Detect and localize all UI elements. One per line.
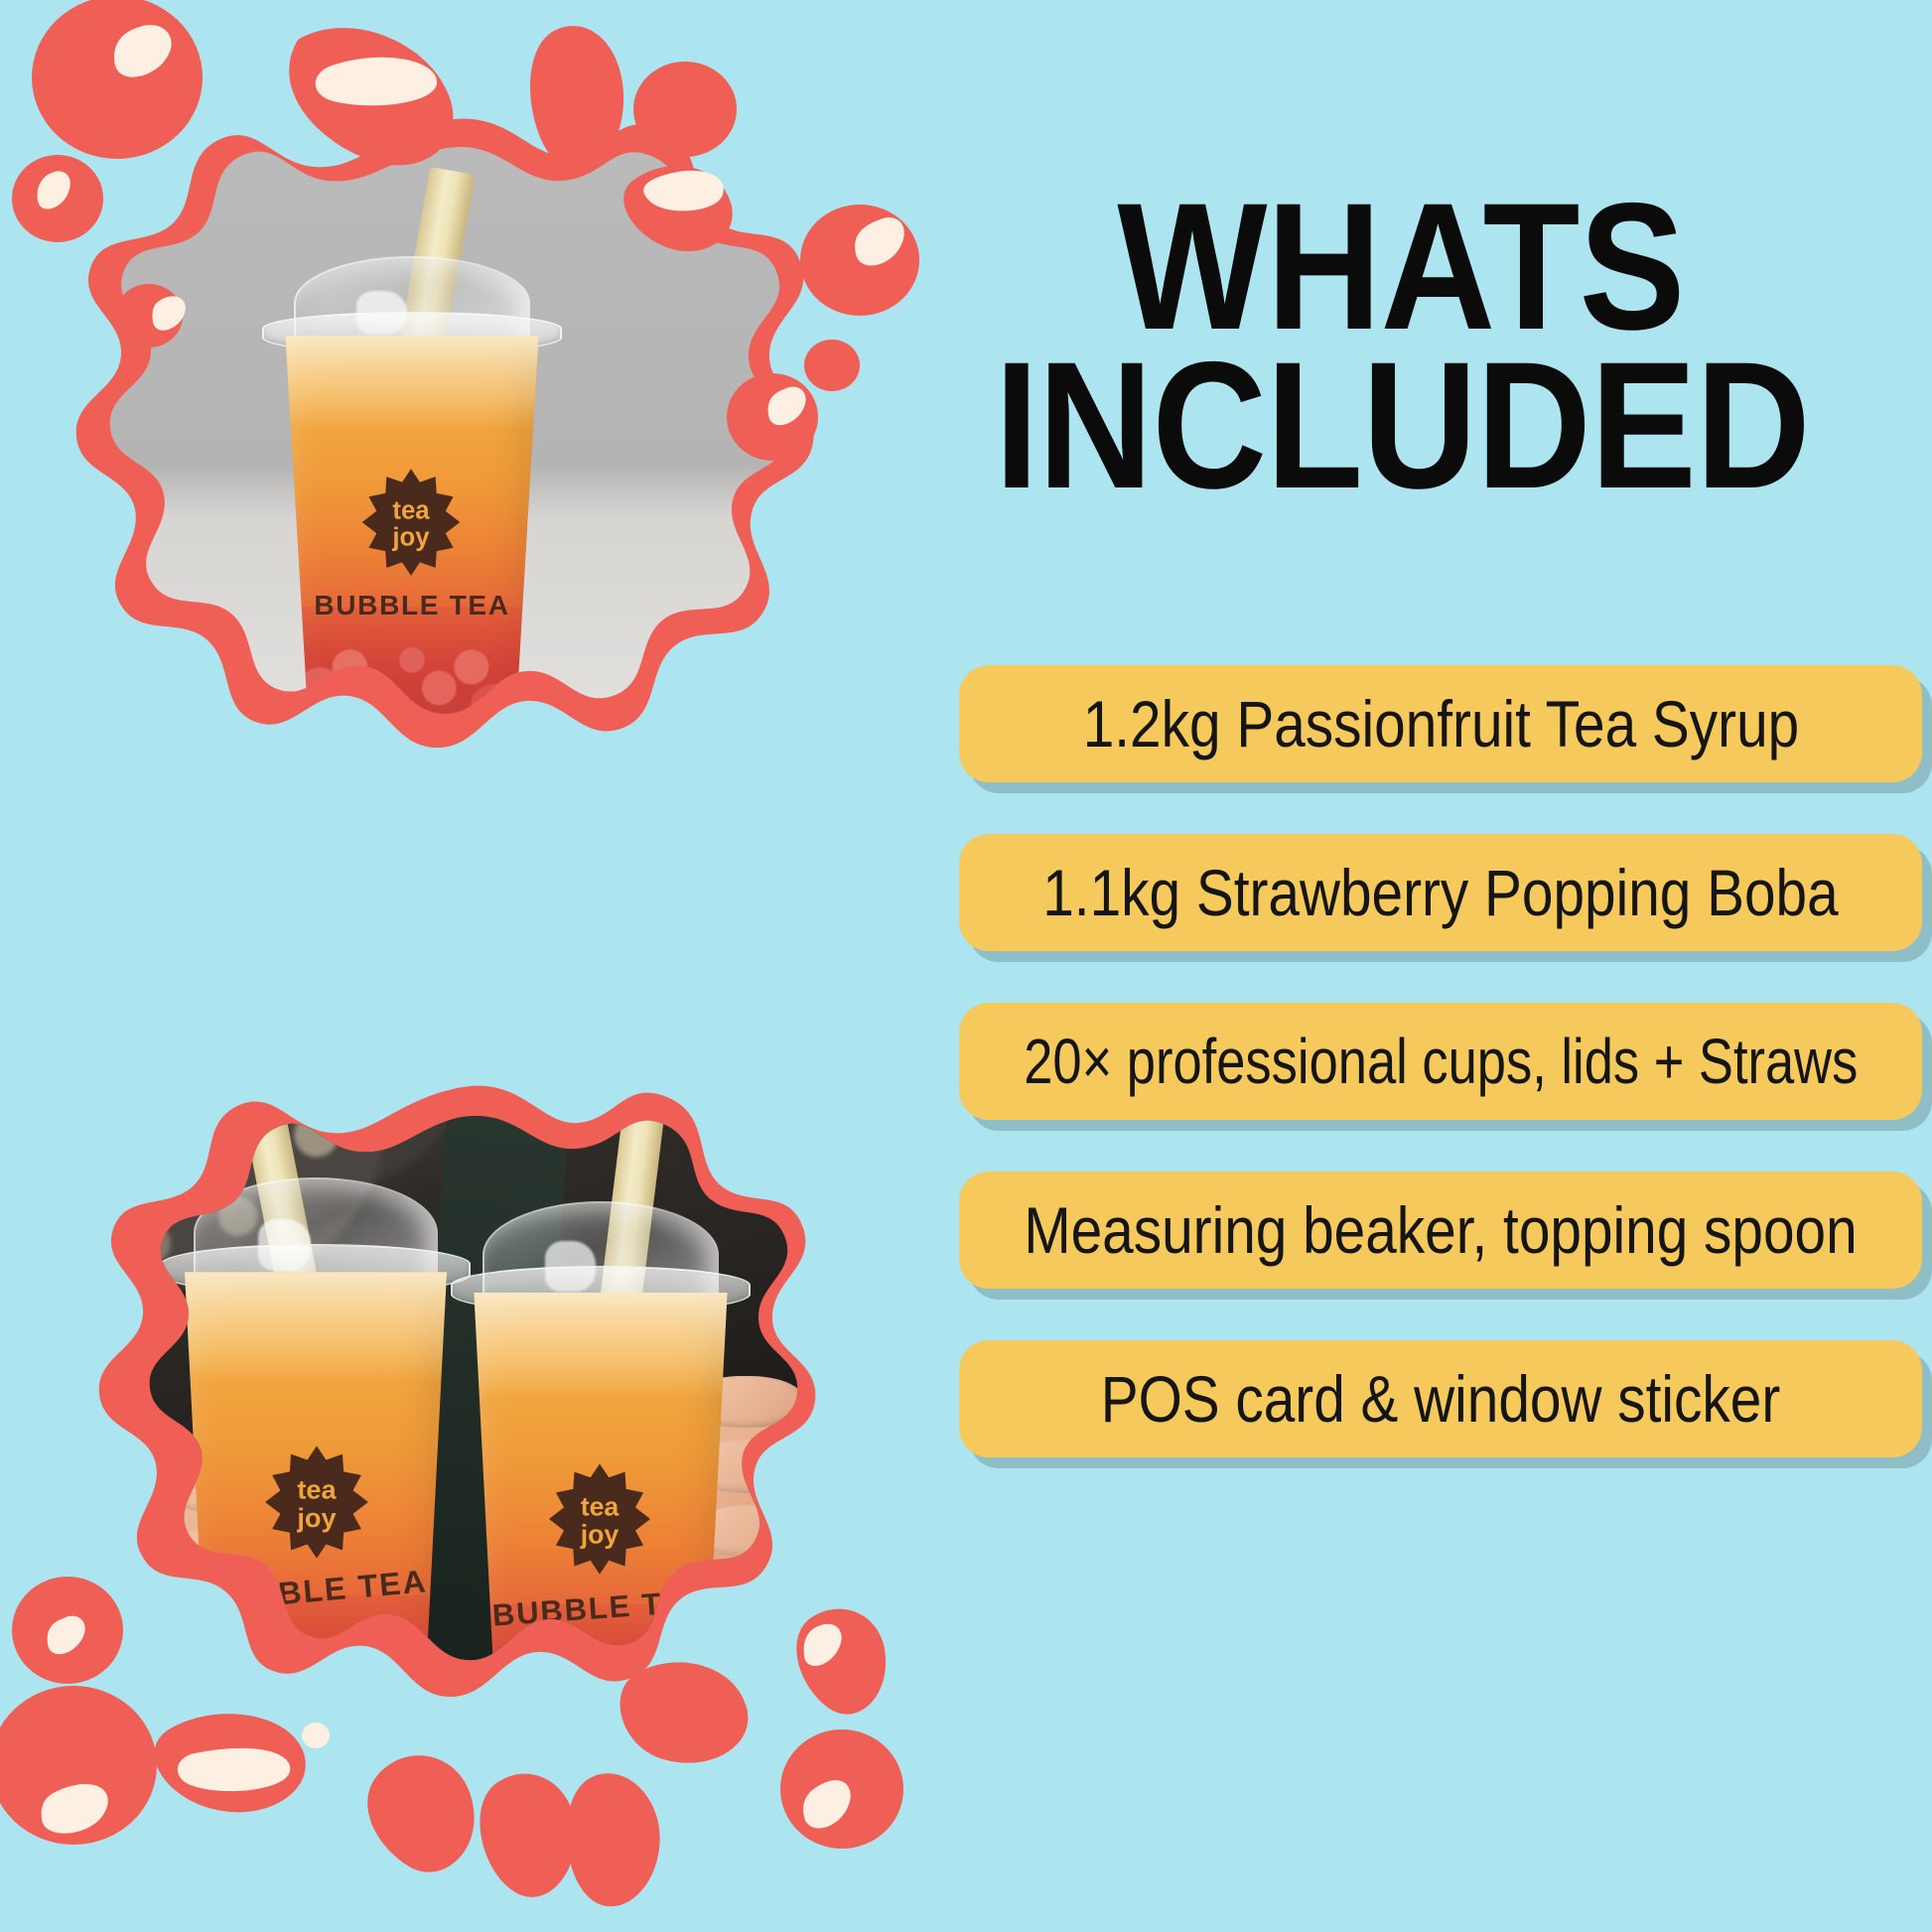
foam-layer bbox=[268, 336, 556, 429]
list-item-label: 20× professional cups, lids + Straws bbox=[1024, 1030, 1858, 1093]
cup-tagline: BUBBLE TEA bbox=[268, 590, 556, 621]
tea-joy-logo: tea joy bbox=[542, 1461, 657, 1577]
list-item[interactable]: 20× professional cups, lids + Straws bbox=[959, 1003, 1922, 1120]
headline-line-2: INCLUDED bbox=[995, 345, 1807, 504]
foam-layer bbox=[457, 1293, 745, 1400]
list-item-label: Measuring beaker, topping spoon bbox=[1024, 1197, 1857, 1263]
headline-line-1: WHATS bbox=[995, 187, 1807, 345]
list-item-label: 1.2kg Passionfruit Tea Syrup bbox=[1082, 691, 1798, 757]
logo-word-tea: tea bbox=[392, 497, 430, 525]
tea-joy-logo: tea joy bbox=[355, 467, 467, 578]
logo-word-tea: tea bbox=[581, 1492, 620, 1522]
cup-single: tea joy BUBBLE TEA bbox=[268, 256, 556, 723]
page-title: WHATS INCLUDED bbox=[995, 187, 1807, 504]
logo-word-joy: joy bbox=[580, 1519, 620, 1549]
splat-frame-bottom: tea joy BUBBLE TEA bbox=[20, 1003, 894, 1926]
list-item-label: POS card & window sticker bbox=[1101, 1366, 1781, 1432]
list-item-label: 1.1kg Strawberry Popping Boba bbox=[1042, 860, 1838, 925]
splat-frame-top: tea joy BUBBLE TEA bbox=[0, 0, 884, 894]
logo-word-joy: joy bbox=[296, 1502, 336, 1533]
list-item[interactable]: 1.2kg Passionfruit Tea Syrup bbox=[959, 665, 1922, 782]
poster-canvas: tea joy BUBBLE TEA bbox=[0, 0, 1932, 1932]
included-items-list: 1.2kg Passionfruit Tea Syrup 1.1kg Straw… bbox=[959, 665, 1922, 1457]
logo-word-tea: tea bbox=[297, 1473, 337, 1504]
foam-layer bbox=[167, 1272, 465, 1383]
list-item[interactable]: Measuring beaker, topping spoon bbox=[959, 1172, 1922, 1289]
content-column: WHATS INCLUDED 1.2kg Passionfruit Tea Sy… bbox=[939, 0, 1932, 1932]
tea-joy-logo: tea joy bbox=[258, 1444, 375, 1561]
logo-word-joy: joy bbox=[391, 524, 430, 552]
list-item[interactable]: 1.1kg Strawberry Popping Boba bbox=[959, 834, 1922, 951]
list-item[interactable]: POS card & window sticker bbox=[959, 1340, 1922, 1457]
